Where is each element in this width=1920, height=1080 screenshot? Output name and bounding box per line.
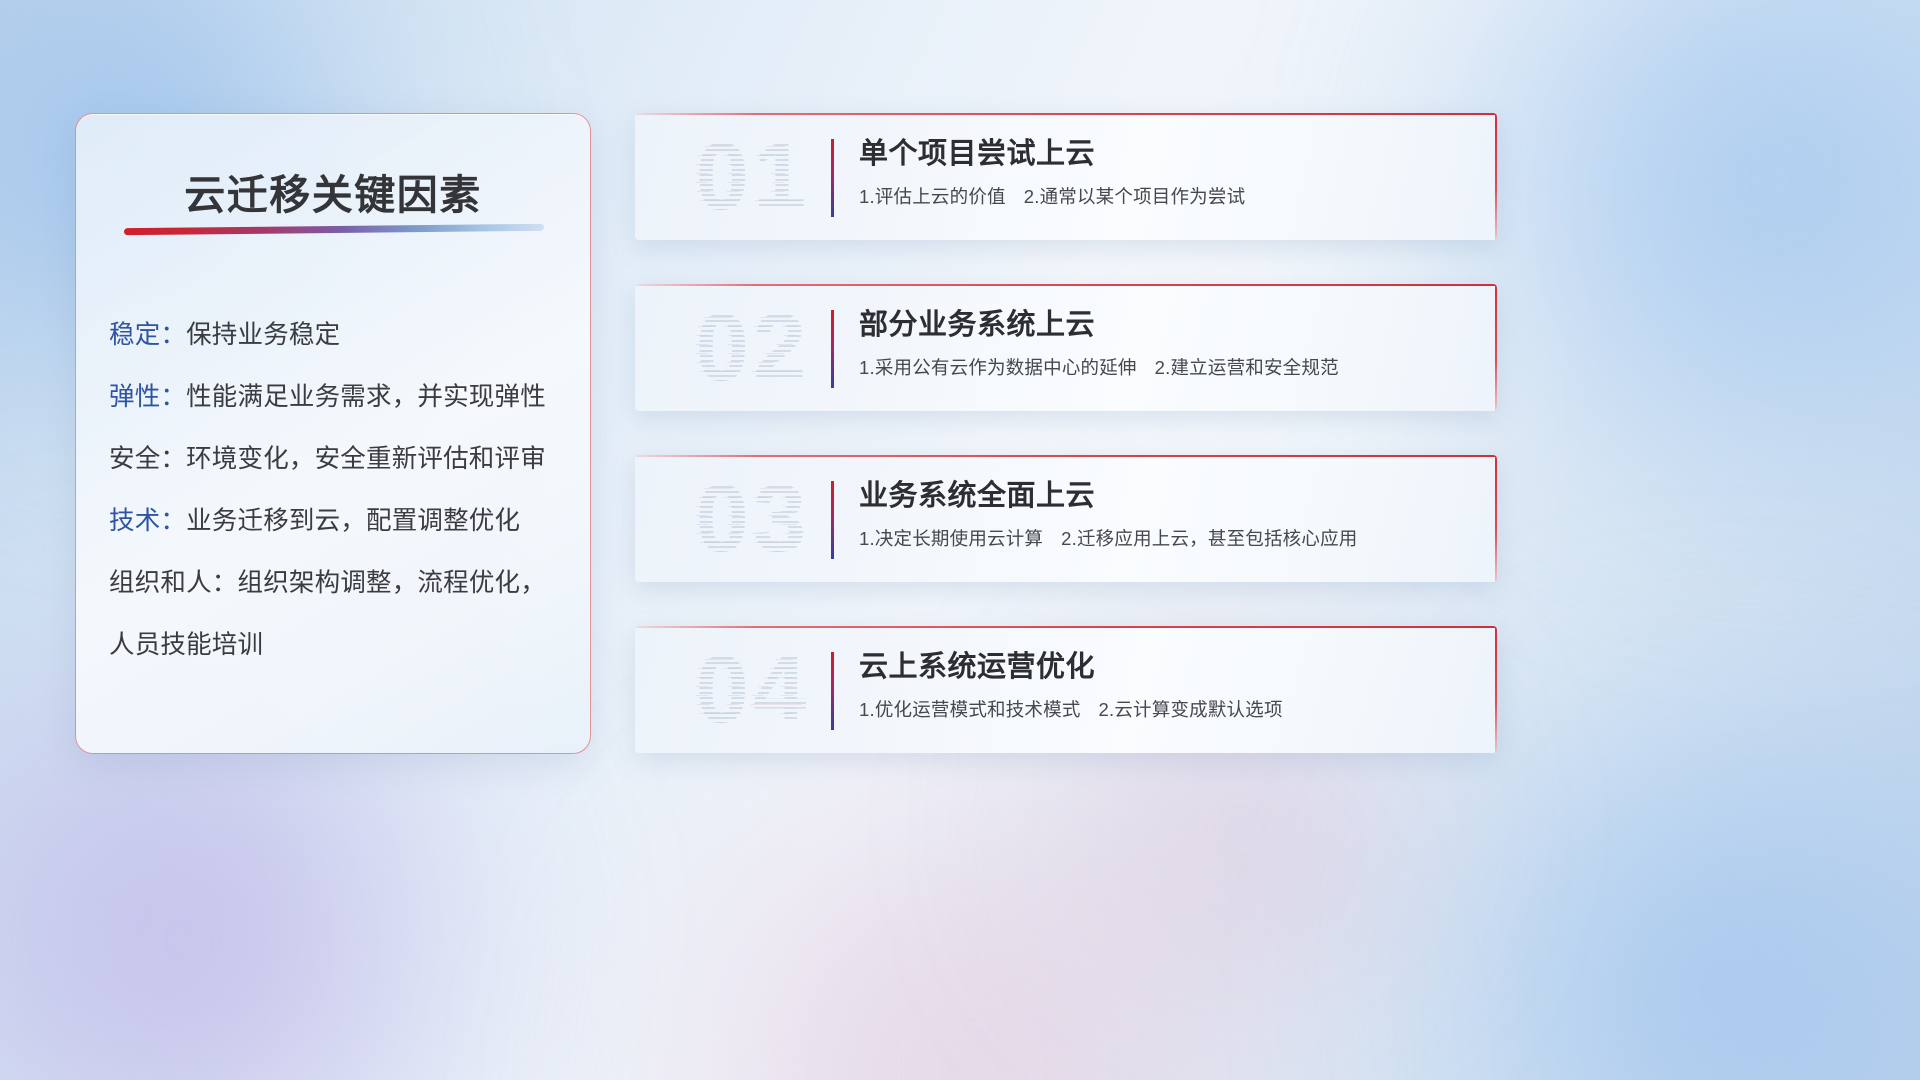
stage-number: 03 <box>663 461 843 577</box>
stage-card[interactable]: 0101单个项目尝试上云1.评估上云的价值2.通常以某个项目作为尝试 <box>635 113 1497 240</box>
stage-title: 云上系统运营优化 <box>859 648 1473 686</box>
stage-point-1: 1.采用公有云作为数据中心的延伸 <box>859 357 1137 378</box>
stage-card-body: 单个项目尝试上云1.评估上云的价值2.通常以某个项目作为尝试 <box>859 135 1473 209</box>
stage-point-2: 2.建立运营和安全规范 <box>1155 357 1339 378</box>
key-factors-panel: 云迁移关键因素 稳定：保持业务稳定弹性：性能满足业务需求，并实现弹性安全：环境变… <box>75 113 591 754</box>
key-factor-text: 性能满足业务需求，并实现弹性 <box>186 383 546 411</box>
key-factors-list: 稳定：保持业务稳定弹性：性能满足业务需求，并实现弹性安全：环境变化，安全重新评估… <box>109 304 570 676</box>
stage-divider-line <box>831 310 834 388</box>
stage-points: 1.优化运营模式和技术模式2.云计算变成默认选项 <box>859 696 1473 722</box>
panel-title: 云迁移关键因素 <box>76 161 590 221</box>
stage-divider-line <box>831 139 834 217</box>
key-factor-item: 弹性：性能满足业务需求，并实现弹性 <box>109 366 570 428</box>
key-factor-text: 业务迁移到云，配置调整优化 <box>186 507 520 535</box>
stage-card[interactable]: 0303业务系统全面上云1.决定长期使用云计算2.迁移应用上云，甚至包括核心应用 <box>635 455 1497 582</box>
stage-card-list: 0101单个项目尝试上云1.评估上云的价值2.通常以某个项目作为尝试0202部分… <box>635 113 1497 797</box>
key-factor-text: 保持业务稳定 <box>186 321 340 349</box>
stage-point-1: 1.决定长期使用云计算 <box>859 528 1043 549</box>
stage-divider-line <box>831 652 834 730</box>
stage-point-1: 1.评估上云的价值 <box>859 186 1006 207</box>
stage-number: 04 <box>663 632 843 748</box>
title-underline-gradient <box>124 224 544 235</box>
stage-title: 单个项目尝试上云 <box>859 135 1473 173</box>
key-factor-text: 环境变化，安全重新评估和评审 <box>186 445 546 473</box>
stage-points: 1.采用公有云作为数据中心的延伸2.建立运营和安全规范 <box>859 354 1473 380</box>
stage-point-2: 2.通常以某个项目作为尝试 <box>1024 186 1246 207</box>
key-factor-item: 稳定：保持业务稳定 <box>109 304 570 366</box>
key-factor-text: 人员技能培训 <box>109 631 263 659</box>
stage-divider-line <box>831 481 834 559</box>
stage-card-body: 云上系统运营优化1.优化运营模式和技术模式2.云计算变成默认选项 <box>859 648 1473 722</box>
key-factor-label: 安全： <box>109 445 186 473</box>
key-factor-label: 弹性： <box>109 383 186 411</box>
stage-title: 业务系统全面上云 <box>859 477 1473 515</box>
key-factor-text: 组织架构调整，流程优化， <box>238 569 546 597</box>
slide-stage: 云迁移关键因素 稳定：保持业务稳定弹性：性能满足业务需求，并实现弹性安全：环境变… <box>0 0 1920 1080</box>
key-factor-label: 技术： <box>109 507 186 535</box>
stage-point-2: 2.迁移应用上云，甚至包括核心应用 <box>1061 528 1357 549</box>
stage-card[interactable]: 0202部分业务系统上云1.采用公有云作为数据中心的延伸2.建立运营和安全规范 <box>635 284 1497 411</box>
key-factor-label: 组织和人： <box>109 569 238 597</box>
key-factor-item: 技术：业务迁移到云，配置调整优化 <box>109 490 570 552</box>
key-factor-item: 组织和人：组织架构调整，流程优化， <box>109 552 570 614</box>
key-factor-label: 稳定： <box>109 321 186 349</box>
stage-points: 1.评估上云的价值2.通常以某个项目作为尝试 <box>859 183 1473 209</box>
stage-number: 02 <box>663 290 843 406</box>
stage-number: 01 <box>663 119 843 235</box>
stage-point-2: 2.云计算变成默认选项 <box>1099 699 1283 720</box>
key-factor-item: 安全：环境变化，安全重新评估和评审 <box>109 428 570 490</box>
stage-title: 部分业务系统上云 <box>859 306 1473 344</box>
stage-card-body: 部分业务系统上云1.采用公有云作为数据中心的延伸2.建立运营和安全规范 <box>859 306 1473 380</box>
stage-point-1: 1.优化运营模式和技术模式 <box>859 699 1081 720</box>
key-factor-item: 人员技能培训 <box>109 614 570 676</box>
stage-card[interactable]: 0404云上系统运营优化1.优化运营模式和技术模式2.云计算变成默认选项 <box>635 626 1497 753</box>
stage-points: 1.决定长期使用云计算2.迁移应用上云，甚至包括核心应用 <box>859 525 1473 551</box>
stage-card-body: 业务系统全面上云1.决定长期使用云计算2.迁移应用上云，甚至包括核心应用 <box>859 477 1473 551</box>
